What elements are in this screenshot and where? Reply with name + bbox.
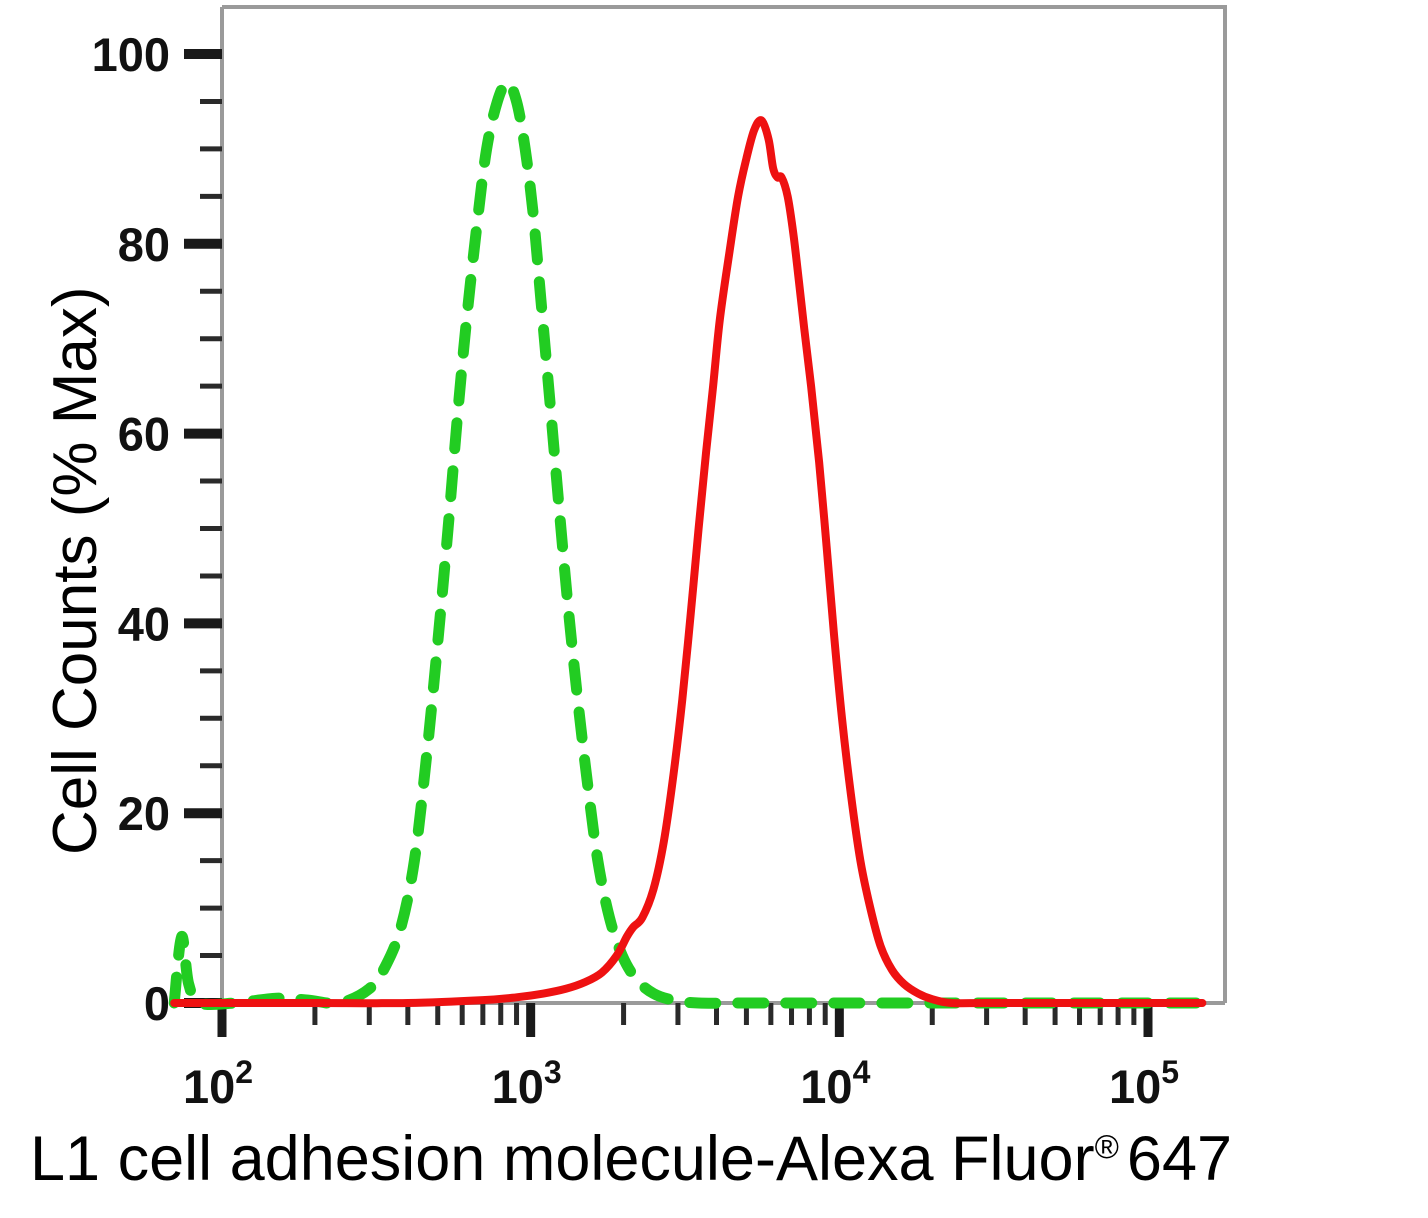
x-tick-label: 103 bbox=[492, 1054, 562, 1113]
x-tick-label: 104 bbox=[800, 1054, 870, 1113]
flow-cytometry-figure: 020406080100 102103104105 Cell Counts (%… bbox=[0, 0, 1428, 1218]
series-isotype-control bbox=[174, 82, 1202, 1004]
y-tick-label: 100 bbox=[92, 28, 170, 81]
y-tick-label: 0 bbox=[144, 977, 170, 1030]
y-tick-label: 80 bbox=[118, 218, 170, 271]
x-axis-title: L1 cell adhesion molecule-Alexa Fluor®64… bbox=[30, 1124, 1232, 1194]
y-tick-label: 60 bbox=[118, 408, 170, 461]
y-tick-label: 40 bbox=[118, 597, 170, 650]
histogram-chart: 020406080100 102103104105 Cell Counts (%… bbox=[0, 0, 1428, 1218]
y-tick-label: 20 bbox=[118, 787, 170, 840]
x-axis-ticks bbox=[222, 1003, 1148, 1037]
series-sample bbox=[174, 120, 1202, 1003]
y-axis-ticks bbox=[184, 54, 222, 1003]
x-tick-label: 105 bbox=[1109, 1054, 1179, 1113]
x-axis-title-main: L1 cell adhesion molecule-Alexa Fluor bbox=[30, 1124, 1095, 1194]
plot-frame-border bbox=[222, 7, 1225, 1003]
data-series-group bbox=[174, 82, 1202, 1004]
x-tick-label: 102 bbox=[183, 1054, 253, 1113]
x-axis-tick-labels: 102103104105 bbox=[183, 1054, 1179, 1113]
x-axis-title-tail: 647 bbox=[1127, 1124, 1232, 1194]
x-axis-title-superscript: ® bbox=[1095, 1128, 1119, 1165]
y-axis-title: Cell Counts (% Max) bbox=[41, 287, 110, 855]
